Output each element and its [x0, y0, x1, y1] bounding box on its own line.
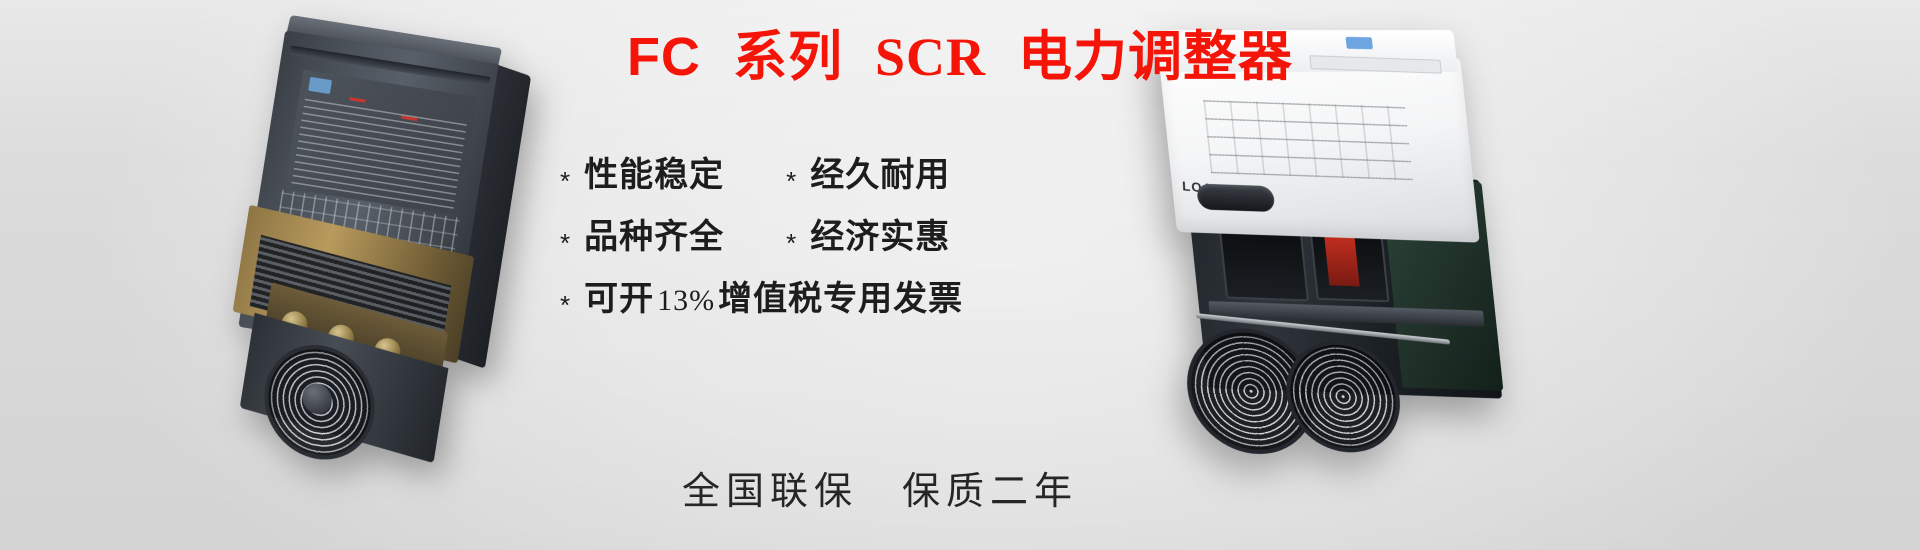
warranty-two-years: 保质二年 [902, 460, 1078, 515]
feature-row: * 可开 13% 增值税专用发票 [560, 264, 1200, 326]
feature-item-durable: * 经久耐用 [786, 147, 950, 196]
feature-item-full-range: * 品种齐全 [560, 209, 724, 258]
bullet-star-icon: * [560, 230, 570, 256]
invoice-prefix: 可开 [584, 271, 654, 320]
feature-row: * 品种齐全 * 经济实惠 [560, 202, 1200, 264]
bullet-star-icon: * [786, 168, 796, 194]
feature-label: 经济实惠 [810, 209, 950, 258]
warranty-line: 全国联保 保质二年 [560, 460, 1200, 515]
left-unit-printed-text [291, 94, 467, 209]
feature-list: * 性能稳定 * 经久耐用 * 品种齐全 * 经济实惠 * 可开 13% [560, 140, 1200, 326]
feature-label: 性能稳定 [584, 147, 724, 196]
invoice-suffix: 增值税专用发票 [718, 271, 963, 320]
bullet-star-icon: * [786, 230, 796, 256]
title-technology: SCR [875, 27, 986, 87]
right-unit-printed-terminal-map [1203, 100, 1413, 181]
title-model: FC [627, 27, 701, 87]
feature-row: * 性能稳定 * 经久耐用 [560, 140, 1200, 202]
banner-title: FC 系列 SCR 电力调整器 [0, 12, 1920, 91]
title-series: 系列 [733, 25, 843, 88]
bullet-star-icon: * [560, 168, 570, 194]
feature-label: 经久耐用 [810, 147, 950, 196]
feature-item-stable-performance: * 性能稳定 [560, 147, 724, 196]
feature-item-economical: * 经济实惠 [786, 209, 950, 258]
invoice-rate: 13% [654, 284, 718, 318]
title-product: 电力调整器 [1018, 25, 1293, 88]
feature-label: 品种齐全 [584, 209, 724, 258]
feature-item-vat-invoice: * 可开 13% 增值税专用发票 [560, 271, 963, 320]
warranty-nationwide: 全国联保 [682, 460, 858, 515]
bullet-star-icon: * [560, 292, 570, 318]
right-unit-handle [1196, 184, 1275, 213]
promotional-banner: LOAD FC 系列 SCR 电力调整器 * 性能稳定 * 经久耐用 * [0, 0, 1920, 550]
